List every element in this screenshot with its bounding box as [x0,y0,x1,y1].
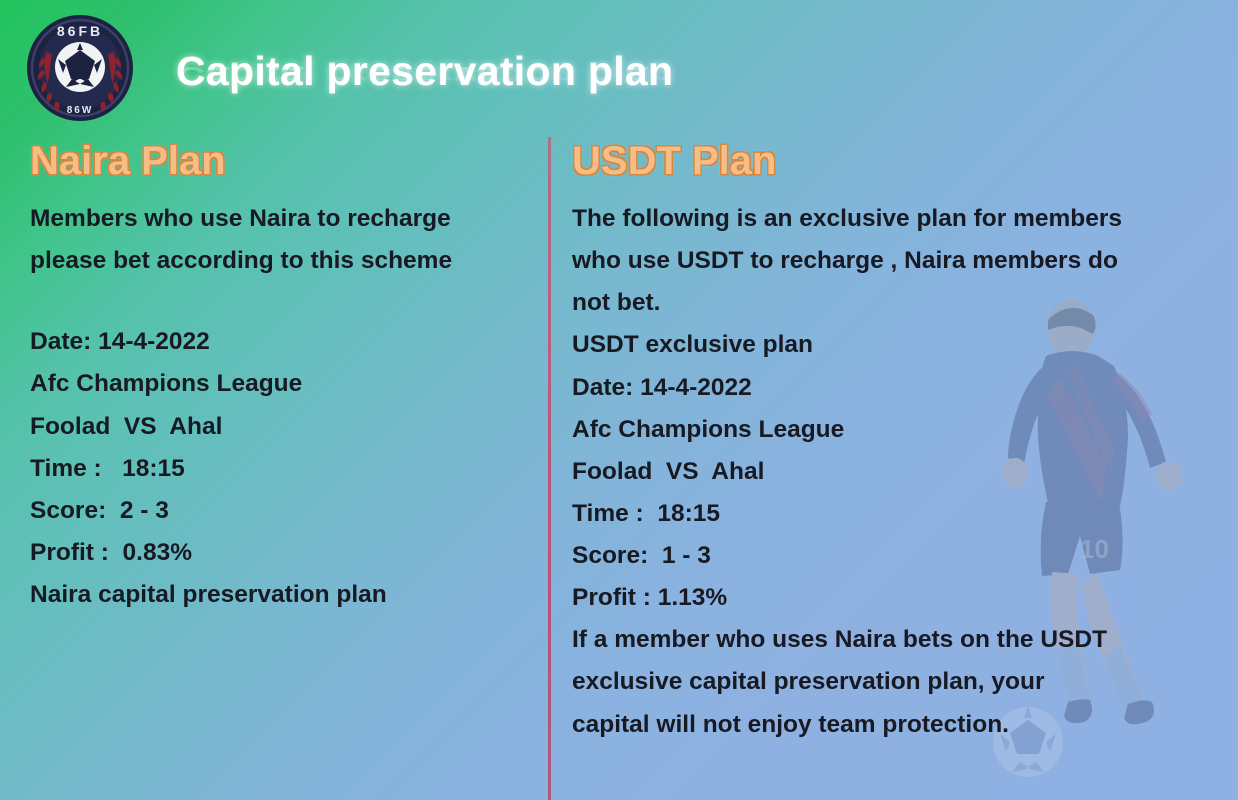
column-divider [548,137,551,800]
usdt-notice: If a member who uses Naira bets on the U… [572,619,1222,745]
usdt-match-details: USDT exclusive plan Date: 14-4-2022 Afc … [572,324,1222,619]
naira-fixture: Foolad VS Ahal [30,406,535,448]
usdt-plan-label: USDT exclusive plan [572,324,1222,366]
usdt-notice-line-1: If a member who uses Naira bets on the U… [572,619,1222,661]
usdt-notice-line-2: exclusive capital preservation plan, you… [572,661,1222,703]
usdt-date: Date: 14-4-2022 [572,367,1222,409]
naira-footer: Naira capital preservation plan [30,574,535,616]
page-title: Capital preservation plan [176,48,673,95]
usdt-plan-column: USDT Plan The following is an exclusive … [572,140,1222,746]
capital-preservation-poster: 10 [0,0,1238,800]
naira-league: Afc Champions League [30,363,535,405]
naira-score: Score: 2 - 3 [30,490,535,532]
naira-intro-line-1: Members who use Naira to recharge [30,198,535,240]
usdt-notice-line-3: capital will not enjoy team protection. [572,704,1222,746]
naira-profit: Profit : 0.83% [30,532,535,574]
usdt-time: Time : 18:15 [572,493,1222,535]
usdt-score: Score: 1 - 3 [572,535,1222,577]
naira-date: Date: 14-4-2022 [30,321,535,363]
naira-spacer [30,281,535,321]
usdt-plan-intro: The following is an exclusive plan for m… [572,198,1222,324]
naira-plan-column: Naira Plan Members who use Naira to rech… [30,140,535,616]
usdt-league: Afc Champions League [572,409,1222,451]
usdt-plan-heading: USDT Plan [572,140,1222,182]
naira-match-details: Date: 14-4-2022 Afc Champions League Foo… [30,321,535,616]
naira-time: Time : 18:15 [30,448,535,490]
usdt-intro-line-3: not bet. [572,282,1222,324]
football-badge-icon: 86FB 86W [26,14,134,122]
logo-top-text: 86FB [57,23,103,39]
logo-bottom-text: 86W [67,105,94,116]
naira-intro-line-2: please bet according to this scheme [30,240,535,282]
usdt-profit: Profit : 1.13% [572,577,1222,619]
usdt-intro-line-2: who use USDT to recharge , Naira members… [572,240,1222,282]
usdt-intro-line-1: The following is an exclusive plan for m… [572,198,1222,240]
usdt-fixture: Foolad VS Ahal [572,451,1222,493]
naira-plan-intro: Members who use Naira to recharge please… [30,198,535,281]
naira-plan-heading: Naira Plan [30,140,535,182]
